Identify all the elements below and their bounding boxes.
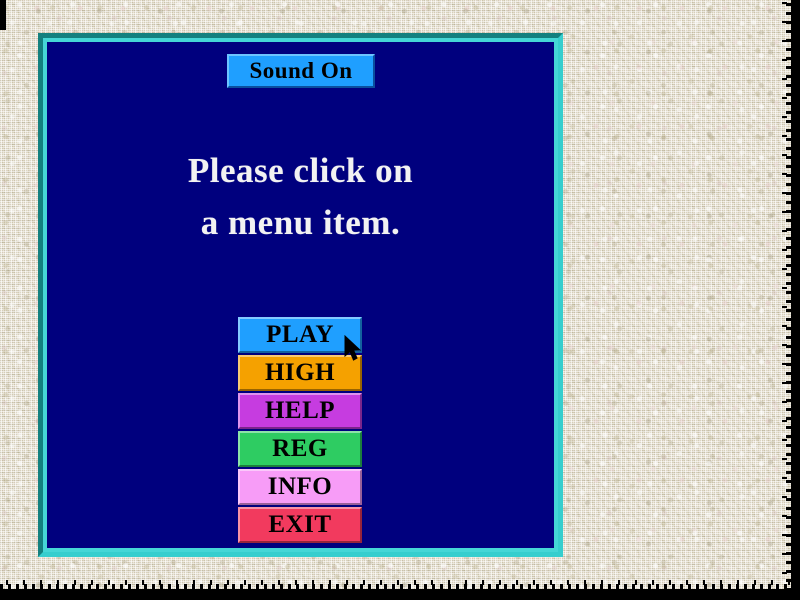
window-frame-right-edge	[791, 0, 800, 600]
menu-item-reg[interactable]: REG	[238, 431, 362, 467]
prompt-line-1: Please click on	[47, 145, 554, 197]
menu-item-info[interactable]: INFO	[238, 469, 362, 505]
game-panel: Sound On Please click on a menu item. PL…	[38, 33, 563, 557]
prompt-message: Please click on a menu item.	[47, 145, 554, 249]
main-menu: PLAY HIGH HELP REG INFO EXIT	[238, 317, 362, 543]
menu-item-exit[interactable]: EXIT	[238, 507, 362, 543]
menu-item-help[interactable]: HELP	[238, 393, 362, 429]
game-panel-inner: Sound On Please click on a menu item. PL…	[47, 42, 554, 548]
prompt-line-2: a menu item.	[47, 197, 554, 249]
window-frame-bottom-edge	[0, 589, 800, 600]
menu-item-play[interactable]: PLAY	[238, 317, 362, 353]
screen: Sound On Please click on a menu item. PL…	[0, 0, 800, 600]
sound-toggle-button[interactable]: Sound On	[227, 54, 375, 88]
menu-item-high[interactable]: HIGH	[238, 355, 362, 391]
window-frame-top-left-edge	[0, 0, 6, 30]
